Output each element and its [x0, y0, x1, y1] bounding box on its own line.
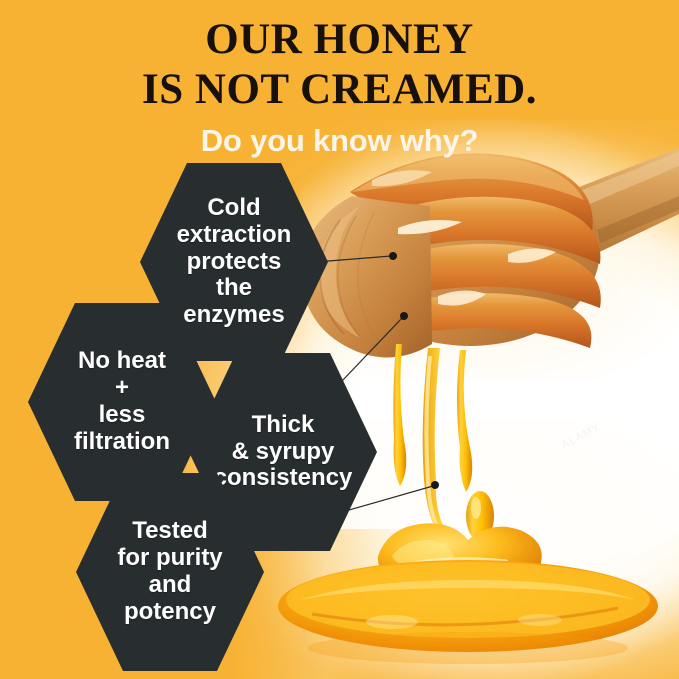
page-title-line-2: IS NOT CREAMED. [0, 68, 679, 111]
poster-heading: OUR HONEY IS NOT CREAMED. Do you know wh… [0, 0, 679, 159]
leader-line-thick-syrupy [342, 317, 403, 381]
feature-label-tested-purity: Testedfor purityandpotency [111, 518, 228, 626]
leader-dot-thick-syrupy [400, 312, 408, 320]
page-subtitle: Do you know why? [0, 123, 679, 159]
feature-label-no-heat: No heat+lessfiltration [68, 348, 176, 456]
feature-label-cold-extraction: Coldextractionprotectstheenzymes [171, 195, 298, 329]
leader-dot-tested-purity [431, 481, 439, 489]
page-title-line-1: OUR HONEY [0, 18, 679, 61]
leader-dot-cold-extraction [389, 252, 397, 260]
feature-label-thick-syrupy: Thick& syrupyconsistency [208, 412, 359, 493]
honey-infographic-poster: ALAMY ALAMY ALAMY ALAMY [0, 0, 679, 679]
